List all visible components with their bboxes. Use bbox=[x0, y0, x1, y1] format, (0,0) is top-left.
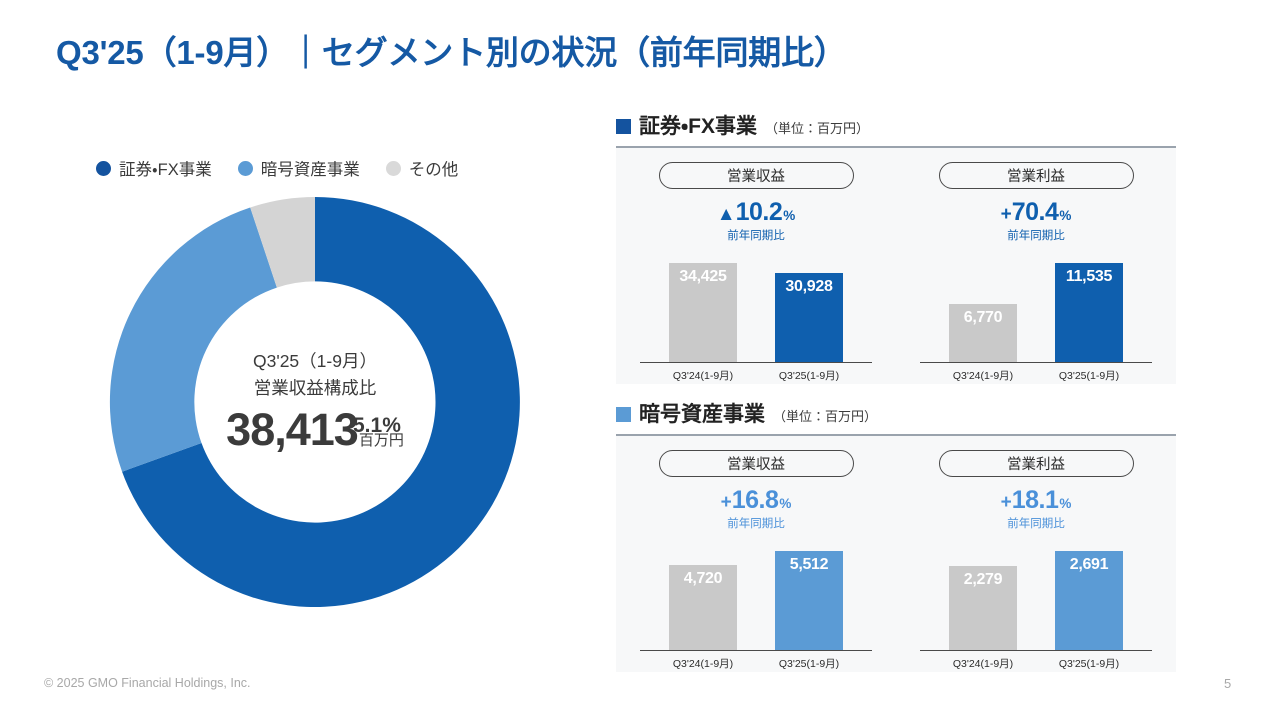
legend-item-crypto: 暗号資産事業 bbox=[238, 156, 360, 180]
delta-number: 18.1 bbox=[1012, 486, 1059, 515]
delta-percent-icon: % bbox=[783, 208, 795, 223]
axis-line bbox=[640, 650, 872, 652]
bar-slot: 34,425 bbox=[669, 263, 737, 363]
axis-label: Q3'25(1-9月) bbox=[775, 368, 843, 383]
donut-label-crypto: 14.4% bbox=[246, 462, 308, 488]
axis-label: Q3'25(1-9月) bbox=[775, 656, 843, 671]
axis-line bbox=[640, 362, 872, 364]
delta-sign: + bbox=[1001, 492, 1012, 514]
page-title: Q3'25（1-9月）｜セグメント別の状況（前年同期比） bbox=[56, 26, 847, 74]
donut-chart: Q3'25（1-9月） 営業収益構成比 38,413 百万円 80.5% 14.… bbox=[95, 192, 535, 612]
panel-unit: （単位：百万円） bbox=[765, 118, 869, 137]
bar-value-label: 2,691 bbox=[1055, 556, 1123, 574]
delta-caption: 前年同期比 bbox=[634, 515, 878, 531]
delta-percent-icon: % bbox=[779, 496, 791, 511]
bar-slot: 11,535 bbox=[1055, 263, 1123, 363]
metric-delta: + 18.1 % bbox=[914, 486, 1158, 515]
bar-slot: 2,691 bbox=[1055, 551, 1123, 651]
bar-slot: 6,770 bbox=[949, 263, 1017, 363]
delta-number: 10.2 bbox=[736, 198, 783, 227]
panel-title: 暗号資産事業 bbox=[639, 398, 765, 428]
delta-sign: ▲ bbox=[717, 204, 736, 226]
metric-delta: + 16.8 % bbox=[634, 486, 878, 515]
bar-curr: 30,928 bbox=[775, 273, 843, 363]
footer-page-number: 5 bbox=[1224, 676, 1231, 691]
axis-label: Q3'24(1-9月) bbox=[669, 656, 737, 671]
panel-body: 営業収益 ▲ 10.2 % 前年同期比 34,425 bbox=[616, 148, 1176, 384]
bar-value-label: 2,279 bbox=[949, 571, 1017, 589]
bar-prev: 6,770 bbox=[949, 304, 1017, 363]
panel-securities-fx: 証券・FX事業 （単位：百万円） 営業収益 ▲ 10.2 % 前年同期比 34,… bbox=[616, 110, 1176, 384]
legend-label: 暗号資産事業 bbox=[261, 156, 360, 180]
bar-slot: 30,928 bbox=[775, 263, 843, 363]
legend-label: その他 bbox=[409, 156, 459, 180]
bar-group: 4,720 5,512 bbox=[634, 551, 878, 651]
metric-pill: 営業収益 bbox=[659, 450, 854, 477]
bar-prev: 2,279 bbox=[949, 566, 1017, 651]
panel-header: 証券・FX事業 （単位：百万円） bbox=[616, 110, 1176, 146]
legend-dot-icon bbox=[386, 161, 401, 176]
axis-label: Q3'25(1-9月) bbox=[1055, 656, 1123, 671]
panel-header: 暗号資産事業 （単位：百万円） bbox=[616, 398, 1176, 434]
axis-label-group: Q3'24(1-9月) Q3'25(1-9月) bbox=[914, 368, 1158, 383]
legend-label: 証券・FX事業 bbox=[119, 156, 212, 180]
delta-percent-icon: % bbox=[1059, 208, 1071, 223]
legend-dot-icon bbox=[96, 161, 111, 176]
slide-root: Q3'25（1-9月）｜セグメント別の状況（前年同期比） 証券・FX事業 暗号資… bbox=[0, 0, 1280, 720]
delta-caption: 前年同期比 bbox=[914, 515, 1158, 531]
panel-body: 営業収益 + 16.8 % 前年同期比 4,720 bbox=[616, 436, 1176, 672]
bar-slot: 4,720 bbox=[669, 551, 737, 651]
axis-label-group: Q3'24(1-9月) Q3'25(1-9月) bbox=[634, 368, 878, 383]
metric-profit: 営業利益 + 18.1 % 前年同期比 2,279 bbox=[896, 436, 1176, 672]
axis-line bbox=[920, 362, 1152, 364]
metric-pill: 営業利益 bbox=[939, 162, 1134, 189]
section-marker-icon bbox=[616, 407, 631, 422]
bar-chart: 34,425 30,928 bbox=[634, 251, 878, 363]
legend-item-other: その他 bbox=[386, 156, 459, 180]
bar-value-label: 30,928 bbox=[775, 278, 843, 296]
axis-label: Q3'24(1-9月) bbox=[949, 368, 1017, 383]
panel-title: 証券・FX事業 bbox=[639, 110, 757, 140]
bar-group: 6,770 11,535 bbox=[914, 263, 1158, 363]
bar-chart: 2,279 2,691 bbox=[914, 539, 1158, 651]
bar-value-label: 11,535 bbox=[1055, 268, 1123, 286]
footer-copyright: © 2025 GMO Financial Holdings, Inc. bbox=[44, 676, 251, 690]
delta-caption: 前年同期比 bbox=[634, 227, 878, 243]
bar-value-label: 34,425 bbox=[669, 268, 737, 286]
donut-svg bbox=[95, 192, 535, 612]
delta-number: 70.4 bbox=[1012, 198, 1059, 227]
bar-chart: 4,720 5,512 bbox=[634, 539, 878, 651]
donut-label-other: 5.1% bbox=[353, 414, 401, 438]
bar-group: 2,279 2,691 bbox=[914, 551, 1158, 651]
panel-unit: （単位：百万円） bbox=[773, 406, 877, 425]
delta-percent-icon: % bbox=[1059, 496, 1071, 511]
delta-caption: 前年同期比 bbox=[914, 227, 1158, 243]
metric-pill: 営業収益 bbox=[659, 162, 854, 189]
bar-curr: 2,691 bbox=[1055, 551, 1123, 651]
bar-curr: 11,535 bbox=[1055, 263, 1123, 363]
bar-prev: 34,425 bbox=[669, 263, 737, 363]
bar-prev: 4,720 bbox=[669, 565, 737, 651]
panel-crypto-assets: 暗号資産事業 （単位：百万円） 営業収益 + 16.8 % 前年同期比 4,72… bbox=[616, 398, 1176, 672]
bar-curr: 5,512 bbox=[775, 551, 843, 651]
metric-delta: + 70.4 % bbox=[914, 198, 1158, 227]
bar-value-label: 4,720 bbox=[669, 570, 737, 588]
bar-slot: 5,512 bbox=[775, 551, 843, 651]
axis-label-group: Q3'24(1-9月) Q3'25(1-9月) bbox=[914, 656, 1158, 671]
axis-line bbox=[920, 650, 1152, 652]
bar-group: 34,425 30,928 bbox=[634, 263, 878, 363]
axis-label: Q3'24(1-9月) bbox=[949, 656, 1017, 671]
metric-revenue: 営業収益 + 16.8 % 前年同期比 4,720 bbox=[616, 436, 896, 672]
delta-sign: + bbox=[721, 492, 732, 514]
bar-value-label: 6,770 bbox=[949, 309, 1017, 327]
axis-label: Q3'25(1-9月) bbox=[1055, 368, 1123, 383]
donut-legend: 証券・FX事業 暗号資産事業 その他 bbox=[96, 156, 458, 180]
axis-label-group: Q3'24(1-9月) Q3'25(1-9月) bbox=[634, 656, 878, 671]
donut-slice-crypto bbox=[110, 208, 277, 472]
bar-slot: 2,279 bbox=[949, 551, 1017, 651]
metric-revenue: 営業収益 ▲ 10.2 % 前年同期比 34,425 bbox=[616, 148, 896, 384]
metric-pill: 営業利益 bbox=[939, 450, 1134, 477]
metric-delta: ▲ 10.2 % bbox=[634, 198, 878, 227]
delta-number: 16.8 bbox=[732, 486, 779, 515]
legend-dot-icon bbox=[238, 161, 253, 176]
metric-profit: 営業利益 + 70.4 % 前年同期比 6,770 bbox=[896, 148, 1176, 384]
axis-label: Q3'24(1-9月) bbox=[669, 368, 737, 383]
section-marker-icon bbox=[616, 119, 631, 134]
bar-value-label: 5,512 bbox=[775, 556, 843, 574]
legend-item-securities: 証券・FX事業 bbox=[96, 156, 212, 180]
bar-chart: 6,770 11,535 bbox=[914, 251, 1158, 363]
delta-sign: + bbox=[1001, 204, 1012, 226]
